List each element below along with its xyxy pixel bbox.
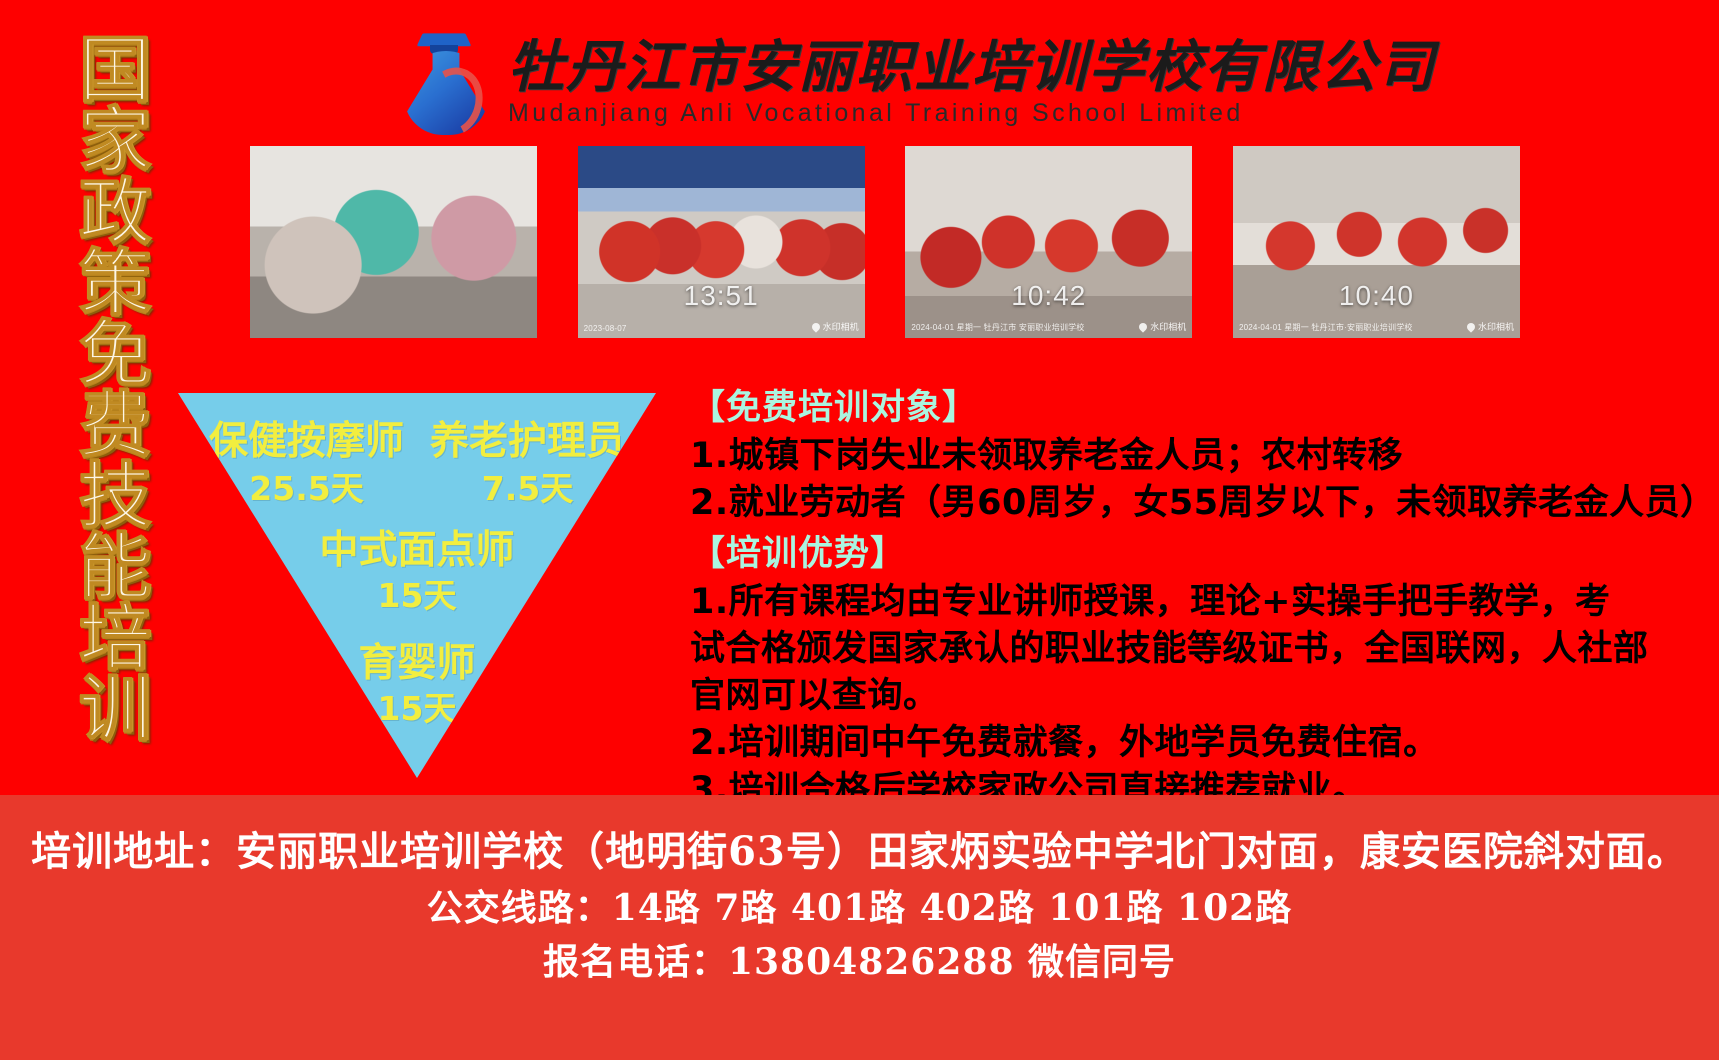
advantage-item: 1.所有课程均由专业讲师授课，理论+实操手把手教学，考 (690, 579, 1710, 626)
course-item-childcare: 育婴师 15天 (178, 641, 656, 729)
course-days: 15天 (178, 689, 656, 729)
course-days: 15天 (178, 576, 656, 616)
vertical-char: 家 (79, 105, 151, 176)
vertical-char: 训 (79, 673, 151, 744)
vertical-char: 免 (79, 318, 151, 389)
photo-nursing-practice: 10:42 2024-04-01 星期一 牡丹江市 安丽职业培训学校 水印相机 (905, 146, 1192, 338)
heading-free-training-target: 【免费培训对象】 (690, 385, 1710, 431)
vertical-char: 能 (79, 531, 151, 602)
photo-watermark: 水印相机 (1139, 320, 1186, 333)
course-days: 25.5天 (209, 469, 404, 509)
contact-banner: 培训地址：安丽职业培训学校（地明街63号）田家炳实验中学北门对面，康安医院斜对面… (0, 795, 1719, 1060)
school-name-en: Mudanjiang Anli Vocational Training Scho… (508, 98, 1436, 128)
vertical-char: 费 (79, 389, 151, 460)
target-item: 1.城镇下岗失业未领取养老金人员；农村转移 (690, 433, 1710, 480)
school-name-block: 牡丹江市安丽职业培训学校有限公司 Mudanjiang Anli Vocatio… (508, 36, 1436, 128)
photo-watermark-label: 水印相机 (1150, 320, 1186, 333)
course-name: 育婴师 (178, 641, 656, 687)
advantage-item: 官网可以查询。 (690, 673, 1710, 720)
poster-root: 国 家 政 策 免 费 技 能 培 训 牡丹江市安丽职业培训学校有限公司 Mud… (0, 0, 1719, 1060)
heading-training-advantage: 【培训优势】 (690, 531, 1710, 577)
photo-watermark: 水印相机 (1467, 320, 1514, 333)
course-item-eldercare: 养老护理员 7.5天 (430, 419, 625, 509)
course-days: 7.5天 (430, 469, 625, 509)
vertical-char: 策 (79, 247, 151, 318)
photo-group-banner: 13:51 2023-08-07 水印相机 (578, 146, 865, 338)
photo-lecture-room: 10:40 2024-04-01 星期一 牡丹江市·安丽职业培训学校 水印相机 (1233, 146, 1520, 338)
photo-strip: 13:51 2023-08-07 水印相机 10:42 2024-04-01 星… (250, 146, 1520, 341)
course-name: 中式面点师 (178, 528, 656, 574)
photo-timestamp: 10:40 (1339, 280, 1414, 312)
banner-address: 培训地址：安丽职业培训学校（地明街63号）田家炳实验中学北门对面，康安医院斜对面… (31, 823, 1688, 881)
photo-date: 2023-08-07 (584, 324, 627, 333)
banner-bus-routes: 公交线路：14路 7路 401路 402路 101路 102路 (427, 881, 1292, 935)
banner-phone: 报名电话：13804826288 微信同号 (543, 935, 1176, 989)
school-header: 牡丹江市安丽职业培训学校有限公司 Mudanjiang Anli Vocatio… (398, 22, 1298, 142)
photo-watermark-label: 水印相机 (1478, 320, 1514, 333)
school-name-cn: 牡丹江市安丽职业培训学校有限公司 (508, 36, 1436, 98)
water-drop-icon (1465, 321, 1476, 332)
advantage-item: 2.培训期间中午免费就餐，外地学员免费住宿。 (690, 720, 1710, 767)
graduation-flask-logo-icon (398, 27, 494, 137)
photo-watermark: 水印相机 (812, 320, 859, 333)
vertical-char: 政 (79, 176, 151, 247)
photo-timestamp: 13:51 (684, 280, 759, 312)
water-drop-icon (1138, 321, 1149, 332)
target-item: 2.就业劳动者（男60周岁，女55周岁以下，未领取养老金人员） (690, 480, 1710, 527)
photo-date: 2024-04-01 星期一 牡丹江市 安丽职业培训学校 (911, 322, 1084, 333)
vertical-char: 技 (79, 460, 151, 531)
photo-date: 2024-04-01 星期一 牡丹江市·安丽职业培训学校 (1239, 322, 1413, 333)
water-drop-icon (810, 321, 821, 332)
vertical-headline: 国 家 政 策 免 费 技 能 培 训 (56, 34, 174, 750)
course-triangle: 保健按摩师 25.5天 养老护理员 7.5天 中式面点师 15天 育婴师 15天 (178, 393, 656, 778)
photo-timestamp: 10:42 (1011, 280, 1086, 312)
course-item-pastry: 中式面点师 15天 (178, 528, 656, 616)
course-top-row: 保健按摩师 25.5天 养老护理员 7.5天 (178, 419, 656, 509)
photo-watermark-label: 水印相机 (823, 320, 859, 333)
course-item-massage: 保健按摩师 25.5天 (209, 419, 404, 509)
course-name: 保健按摩师 (209, 419, 404, 465)
info-block: 【免费培训对象】 1.城镇下岗失业未领取养老金人员；农村转移 2.就业劳动者（男… (690, 385, 1710, 814)
vertical-char: 国 (79, 34, 151, 105)
advantage-item: 试合格颁发国家承认的职业技能等级证书，全国联网，人社部 (690, 626, 1710, 673)
photo-pastry-classroom (250, 146, 537, 338)
vertical-char: 培 (79, 602, 151, 673)
course-name: 养老护理员 (430, 419, 625, 465)
